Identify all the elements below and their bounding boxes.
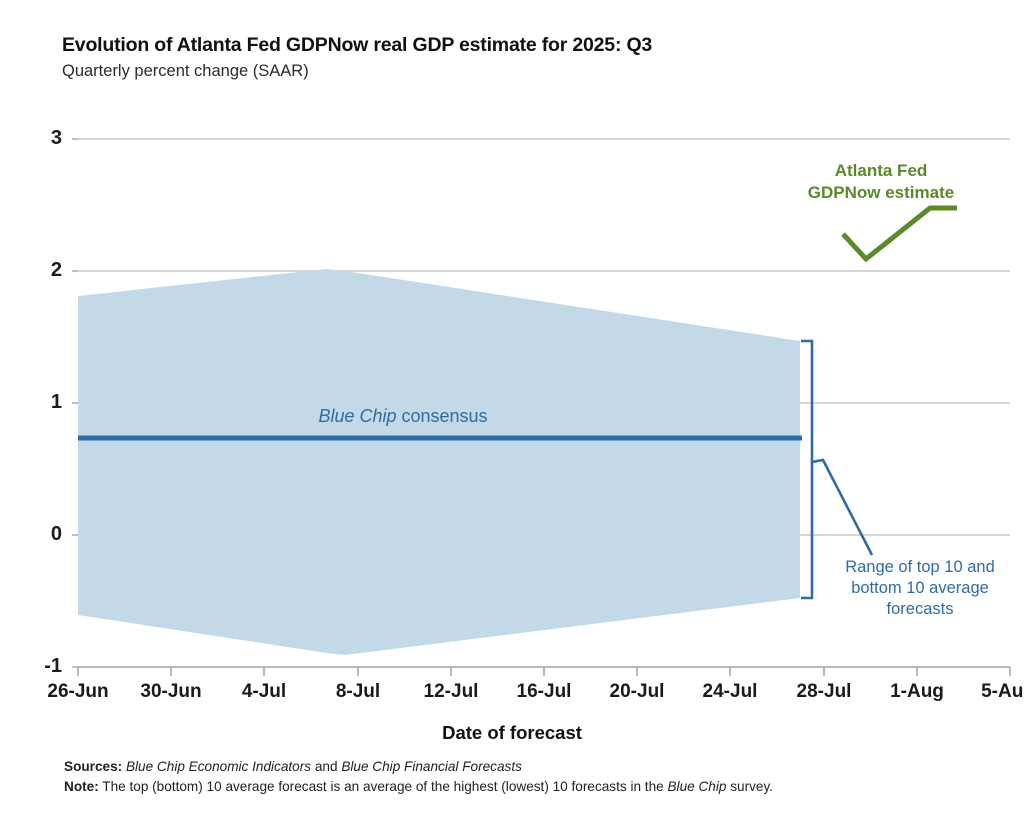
x-tick-24-jul: 24-Jul	[703, 681, 758, 703]
x-axis-title: Date of forecast	[0, 722, 1024, 744]
y-tick-1: 1	[22, 391, 62, 414]
y-axis-ticks	[72, 139, 78, 667]
blue-chip-consensus-label: Blue Chip consensus	[238, 406, 568, 427]
gdpnow-estimate-label: Atlanta Fed GDPNow estimate	[756, 160, 1006, 205]
note-italic: Blue Chip	[667, 779, 726, 794]
gdpnow-estimate-line	[843, 208, 957, 259]
chart-page: Evolution of Atlanta Fed GDPNow real GDP…	[0, 0, 1024, 830]
range-label-line2: bottom 10 average	[851, 579, 989, 597]
x-axis	[78, 667, 1010, 676]
y-tick-3: 3	[22, 127, 62, 150]
note-label: Note:	[64, 779, 99, 794]
note-line: Note: The top (bottom) 10 average foreca…	[64, 777, 1004, 797]
x-tick-30-jun: 30-Jun	[140, 681, 201, 703]
sources-mid: and	[311, 759, 341, 774]
forecast-range-band	[78, 269, 800, 655]
x-tick-26-jun: 26-Jun	[47, 681, 108, 703]
gdpnow-label-line2: GDPNow estimate	[808, 183, 954, 202]
x-tick-16-jul: 16-Jul	[517, 681, 572, 703]
footnotes: Sources: Blue Chip Economic Indicators a…	[64, 757, 1004, 798]
consensus-label-rest: consensus	[396, 406, 487, 426]
sources-italic-1: Blue Chip Economic Indicators	[126, 759, 311, 774]
sources-italic-2: Blue Chip Financial Forecasts	[341, 759, 522, 774]
x-tick-8-jul: 8-Jul	[336, 681, 380, 703]
x-tick-20-jul: 20-Jul	[610, 681, 665, 703]
x-tick-12-jul: 12-Jul	[424, 681, 479, 703]
note-part-2: survey.	[726, 779, 773, 794]
y-tick-neg1: -1	[22, 655, 62, 678]
x-tick-4-jul: 4-Jul	[242, 681, 286, 703]
y-tick-0: 0	[22, 523, 62, 546]
x-tick-5-aug: 5-Aug	[981, 681, 1024, 703]
x-tick-28-jul: 28-Jul	[797, 681, 852, 703]
consensus-label-italic: Blue Chip	[318, 406, 396, 426]
sources-line: Sources: Blue Chip Economic Indicators a…	[64, 757, 1004, 777]
gdpnow-label-line1: Atlanta Fed	[835, 161, 928, 180]
forecast-range-label: Range of top 10 and bottom 10 average fo…	[826, 557, 1014, 620]
y-tick-2: 2	[22, 259, 62, 282]
sources-label: Sources:	[64, 759, 122, 774]
x-tick-1-aug: 1-Aug	[890, 681, 944, 703]
range-label-line1: Range of top 10 and	[845, 558, 995, 576]
note-part-1: The top (bottom) 10 average forecast is …	[99, 779, 668, 794]
range-label-line3: forecasts	[887, 600, 954, 618]
